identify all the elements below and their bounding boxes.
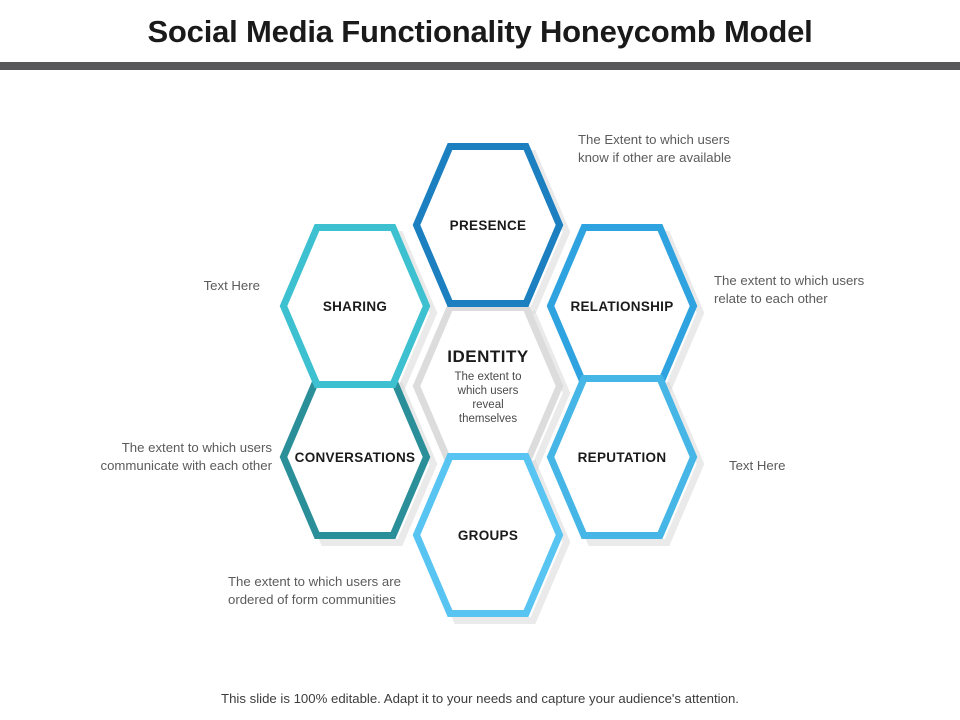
hexagon-presence[interactable]: PRESENCE [412, 142, 564, 308]
hexagon-outline-identity [412, 303, 564, 469]
hexagon-reputation[interactable]: REPUTATION [546, 374, 698, 540]
honeycomb-diagram: IDENTITYThe extent towhich usersrevealth… [0, 0, 960, 720]
caption-reputation: Text Here [729, 457, 879, 475]
hexagon-conversations[interactable]: CONVERSATIONS [279, 374, 431, 540]
hexagon-outline-presence [412, 142, 564, 308]
slide-canvas: Social Media Functionality Honeycomb Mod… [0, 0, 960, 720]
hexagon-outline-relationship [546, 223, 698, 389]
slide-footer-note: This slide is 100% editable. Adapt it to… [0, 691, 960, 706]
hexagon-identity[interactable]: IDENTITYThe extent towhich usersrevealth… [412, 303, 564, 469]
hexagon-outline-reputation [546, 374, 698, 540]
caption-conversations: The extent to which users communicate wi… [42, 439, 272, 475]
hexagon-groups[interactable]: GROUPS [412, 452, 564, 618]
hexagon-outline-sharing [279, 223, 431, 389]
hexagon-relationship[interactable]: RELATIONSHIP [546, 223, 698, 389]
caption-relationship: The extent to which users relate to each… [714, 272, 944, 308]
caption-presence: The Extent to which users know if other … [578, 131, 828, 167]
caption-sharing: Text Here [120, 277, 260, 295]
hexagon-outline-groups [412, 452, 564, 618]
hexagon-outline-conversations [279, 374, 431, 540]
hexagon-sharing[interactable]: SHARING [279, 223, 431, 389]
